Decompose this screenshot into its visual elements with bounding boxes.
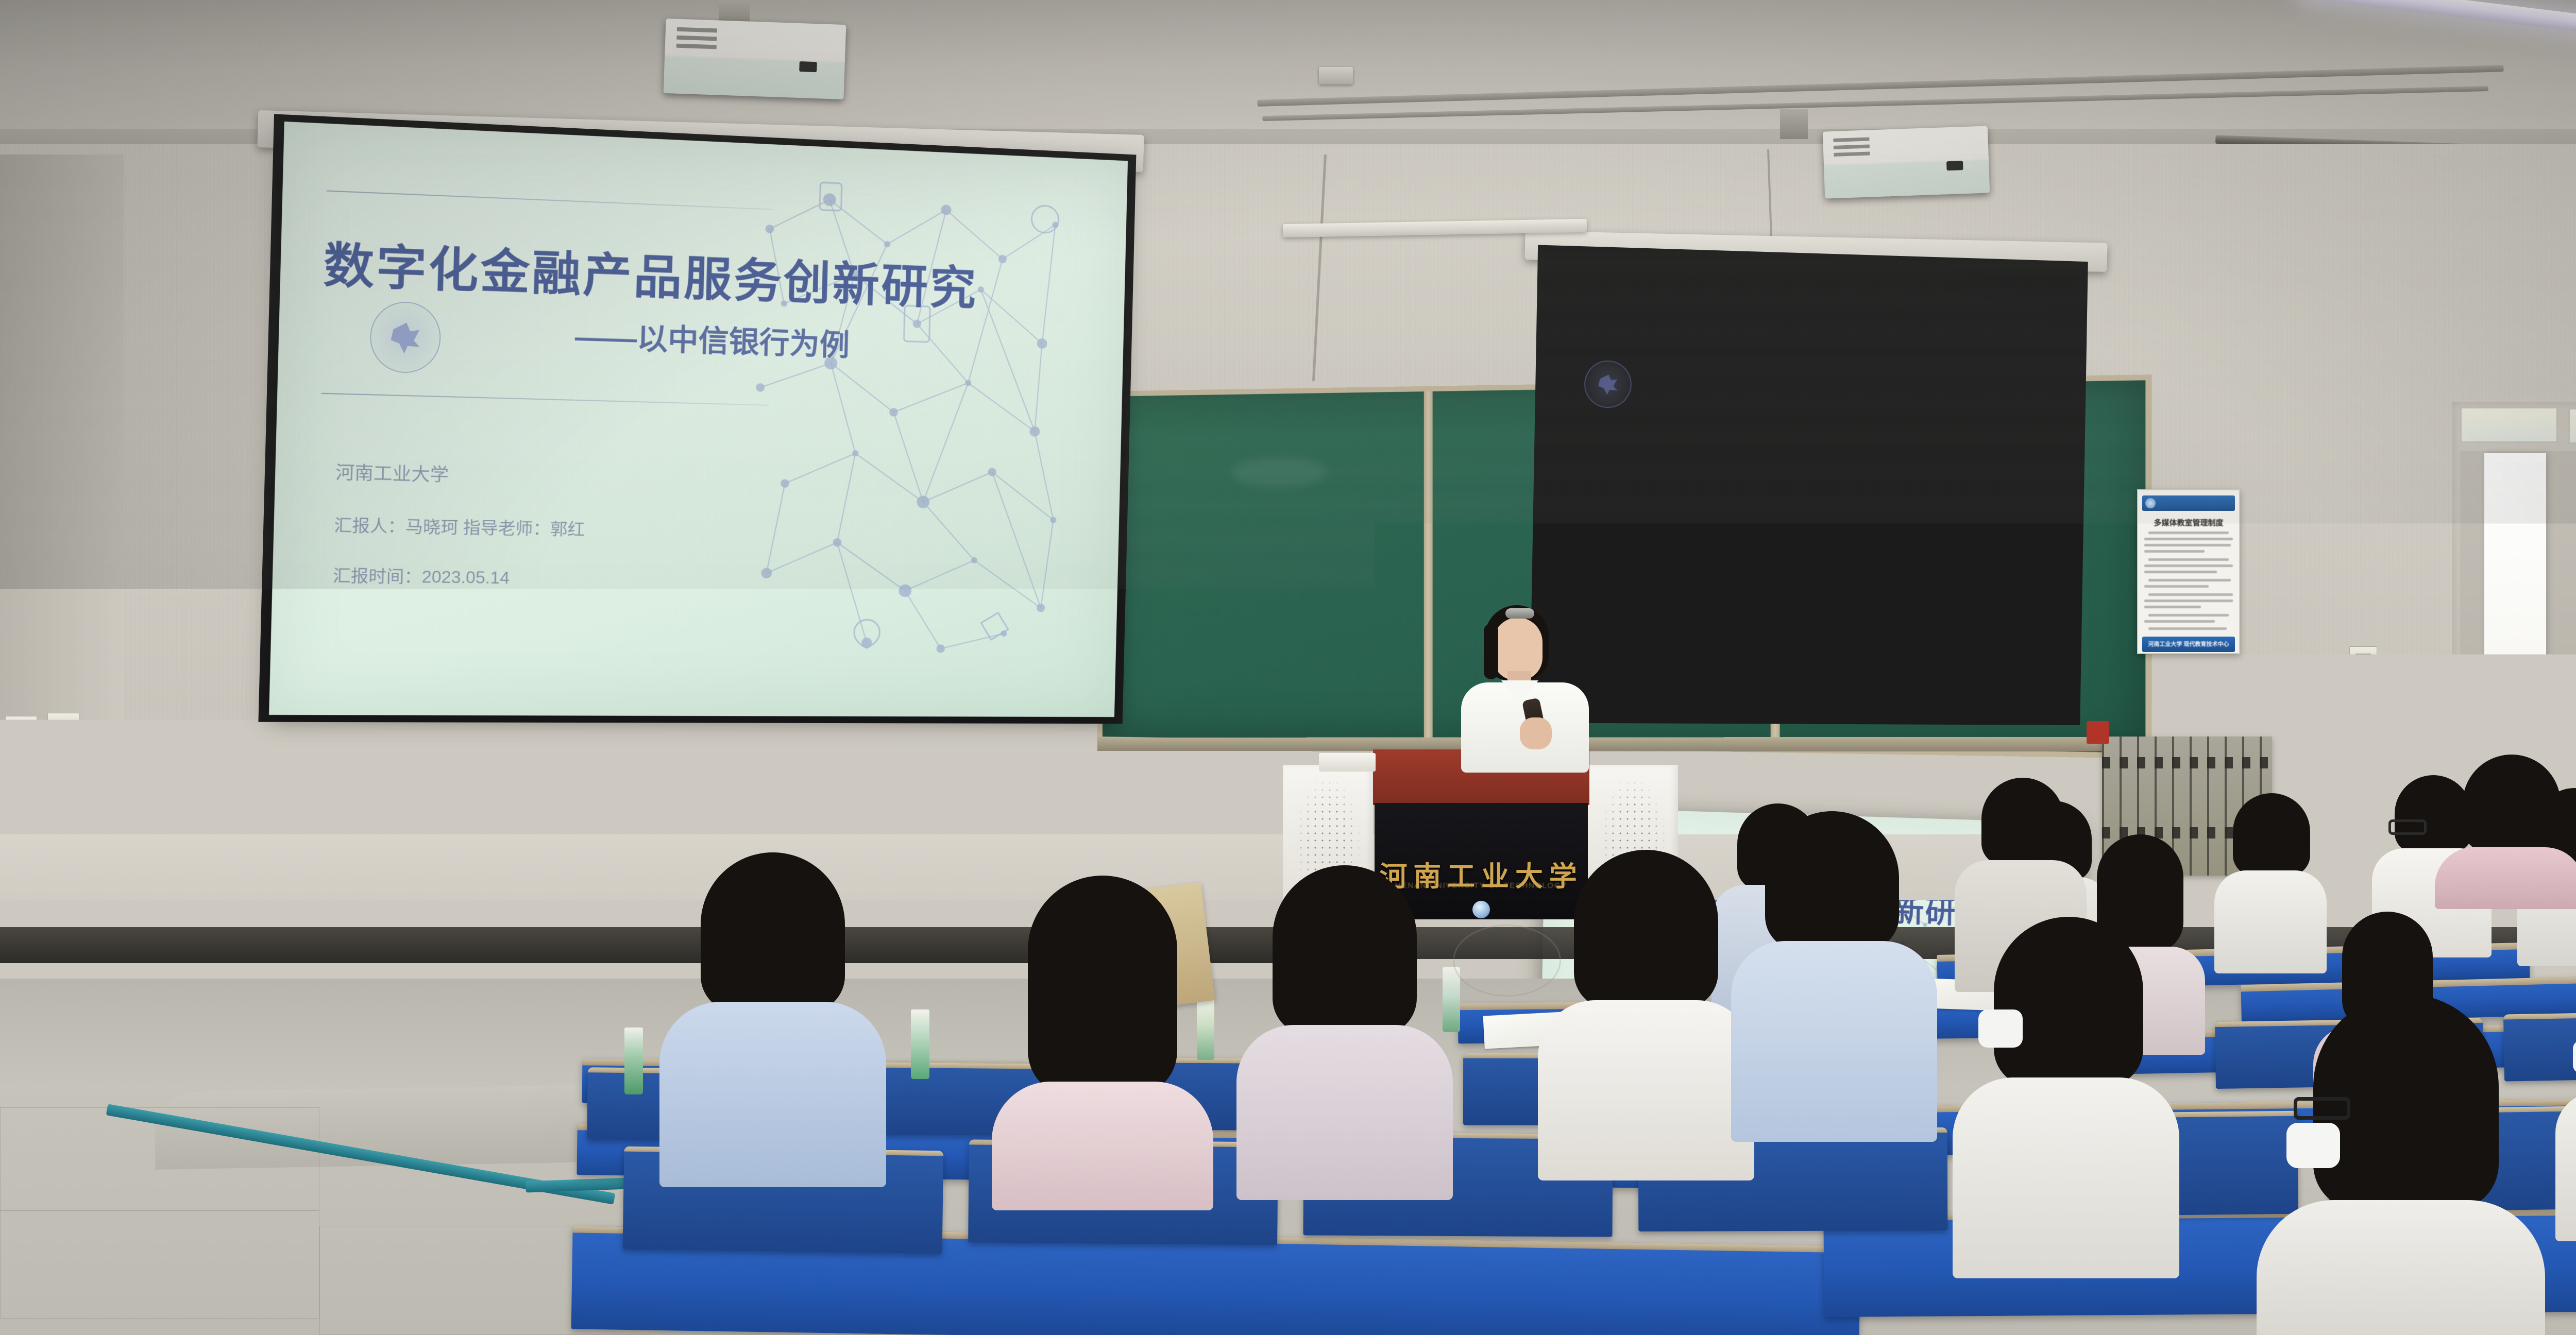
- audience-member: [659, 852, 886, 1182]
- floor-tile: [0, 1107, 319, 1210]
- audience-member: [953, 1187, 1221, 1335]
- audience-member: [2432, 755, 2576, 909]
- transom-window: [2460, 407, 2558, 443]
- slide-rule-bottom: [321, 393, 769, 406]
- fire-equipment-marker: [2087, 721, 2109, 744]
- poster-logo-icon: [2145, 498, 2156, 508]
- slide-subtitle: ——以中信银行为例: [574, 313, 850, 364]
- projection-screen-left: 数字化金融产品服务创新研究 ——以中信银行为例 河南工业大学 汇报人：马晓珂 指…: [269, 122, 1128, 717]
- poster-footer-text: 河南工业大学 现代教育技术中心: [2138, 640, 2239, 648]
- podium-shelf-item: [1319, 753, 1376, 772]
- face-mask-icon: [2573, 1040, 2576, 1073]
- regulations-poster: 多媒体教室管理制度 河南工业大学 现代教育技术中心: [2137, 489, 2240, 654]
- wall-outlet[interactable]: [2349, 646, 2377, 667]
- podium-emblem-badge: [1472, 901, 1490, 918]
- presenter: [1448, 605, 1602, 760]
- audience-member: [1953, 917, 2179, 1277]
- slide-presenter-line: 汇报人：马晓珂 指导老师：郭红: [334, 511, 585, 540]
- audience-member: [2257, 994, 2545, 1335]
- poster-title: 多媒体教室管理制度: [2138, 517, 2239, 528]
- screen-frame-right: [1530, 245, 2088, 725]
- presenter-hair-clip-icon: [1505, 608, 1534, 619]
- junction-box: [1319, 67, 1353, 84]
- eyeglasses-icon: [2388, 819, 2427, 835]
- slide-left: 数字化金融产品服务创新研究 ——以中信银行为例 河南工业大学 汇报人：马晓珂 指…: [269, 122, 1128, 717]
- presenter-hand: [1520, 717, 1552, 749]
- slide-institution: 河南工业大学: [335, 458, 449, 486]
- eyeglasses-icon: [2294, 1097, 2350, 1120]
- projector-lens: [799, 61, 817, 72]
- wall-junction-box: [72, 757, 155, 803]
- projector-mount: [1780, 109, 1808, 139]
- poster-header-bar: [2142, 495, 2235, 511]
- slide-date-line: 汇报时间：2023.05.14: [333, 562, 510, 589]
- wall-outlet[interactable]: [47, 713, 79, 735]
- water-bottle: [624, 1028, 643, 1094]
- presenter-hair-side: [1484, 624, 1498, 679]
- audience-member: [992, 876, 1213, 1205]
- audience-member: [1731, 811, 1937, 1141]
- seal-emblem: [1595, 371, 1621, 397]
- audience-member: [1236, 865, 1453, 1195]
- transom-window: [2568, 408, 2576, 444]
- water-bottle: [911, 1009, 929, 1079]
- audience-member: [2210, 793, 2329, 963]
- classroom-photo: 数字化金融产品服务创新研究 ——以中信银行为例 河南工业大学 汇报人：马晓珂 指…: [0, 0, 2576, 1335]
- audience-member: [1538, 850, 1754, 1179]
- projector-left: [664, 19, 846, 99]
- projector-right: [1823, 126, 1990, 198]
- face-mask-icon: [2286, 1123, 2340, 1168]
- slide-rule-top: [327, 191, 773, 210]
- floor-tile: [0, 1210, 319, 1319]
- face-mask-icon: [1978, 1009, 2023, 1048]
- wall-outlet[interactable]: [5, 716, 37, 739]
- projector-lens: [1946, 161, 1963, 170]
- audience-member: [2555, 968, 2576, 1236]
- seal-emblem: [386, 318, 425, 357]
